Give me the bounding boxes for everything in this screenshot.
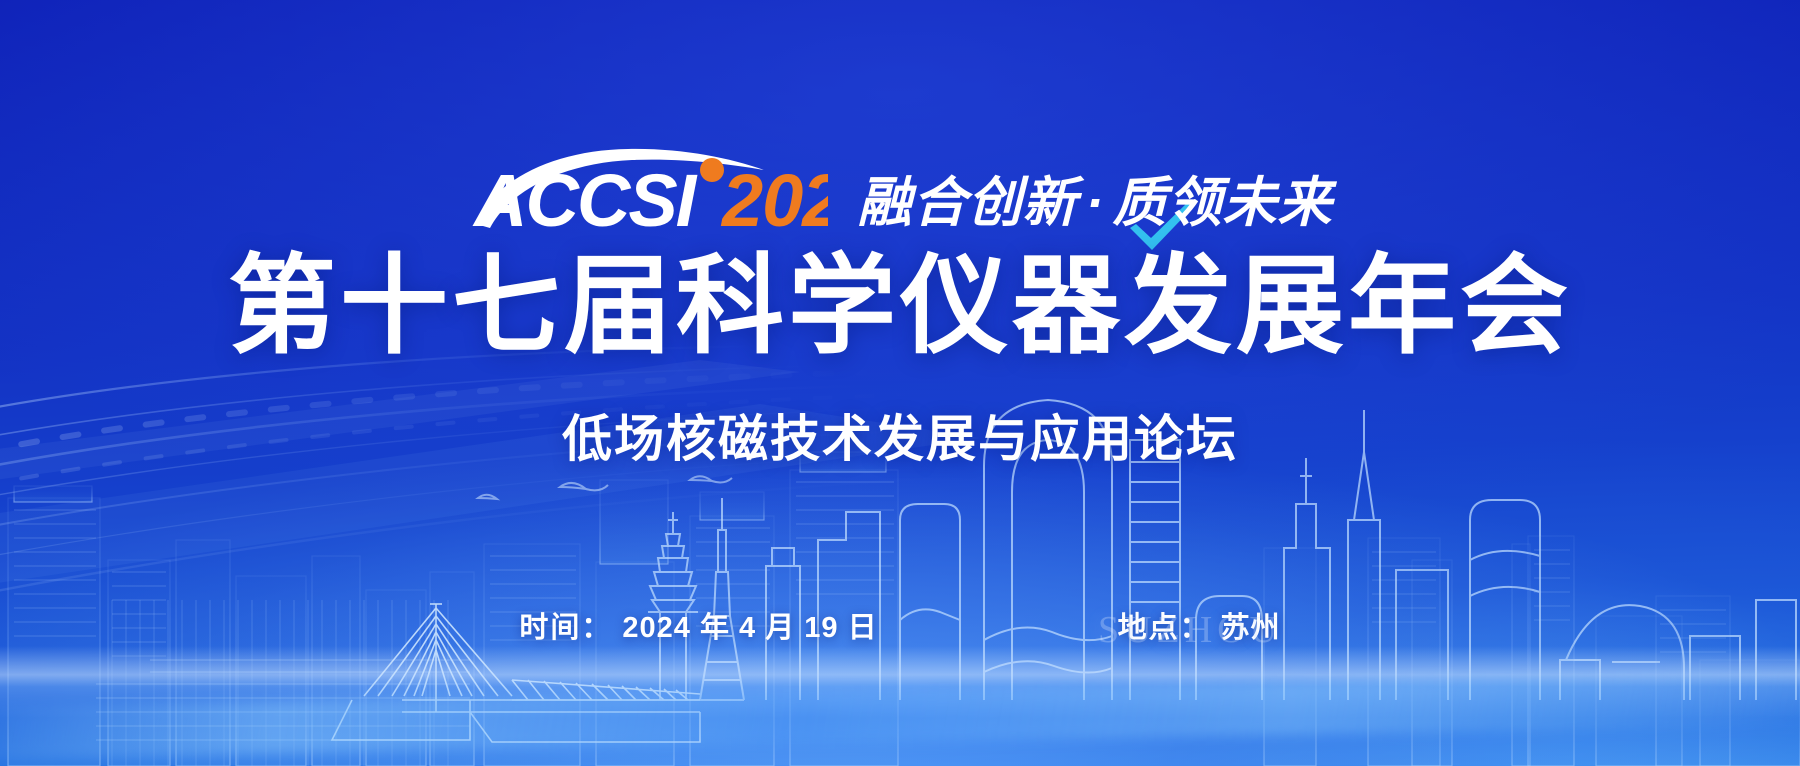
- logo-and-tagline-row: ACCSI 2024 融合创新·质领未来: [0, 146, 1800, 232]
- date-value: 2024 年 4 月 19 日: [622, 604, 877, 646]
- tagline-separator: ·: [1078, 173, 1113, 233]
- page-title: 第十七届科学仪器发展年会: [0, 248, 1800, 365]
- accsi-wordmark: ACCSI: [472, 159, 698, 232]
- tagline-part1: 融合创新: [858, 173, 1078, 233]
- forum-subtitle: 低场核磁技术发展与应用论坛: [0, 412, 1800, 467]
- tagline: 融合创新·质领未来: [858, 176, 1333, 230]
- accsi-logo: ACCSI 2024: [468, 146, 828, 232]
- event-meta-row: 时间： 2024 年 4 月 19 日 地点： 苏州: [0, 604, 1800, 646]
- date-label: 时间：: [519, 604, 612, 646]
- tagline-part2: 质领未来: [1112, 173, 1332, 233]
- event-date: 时间： 2024 年 4 月 19 日: [519, 604, 877, 646]
- i-dot: [700, 158, 724, 182]
- suzhou-watermark: SUZHOU: [1098, 608, 1282, 652]
- event-banner: ACCSI 2024 融合创新·质领未来 第十七届科学仪器发展年会 低场核磁技术…: [0, 0, 1800, 766]
- accsi-year: 2024: [720, 159, 828, 232]
